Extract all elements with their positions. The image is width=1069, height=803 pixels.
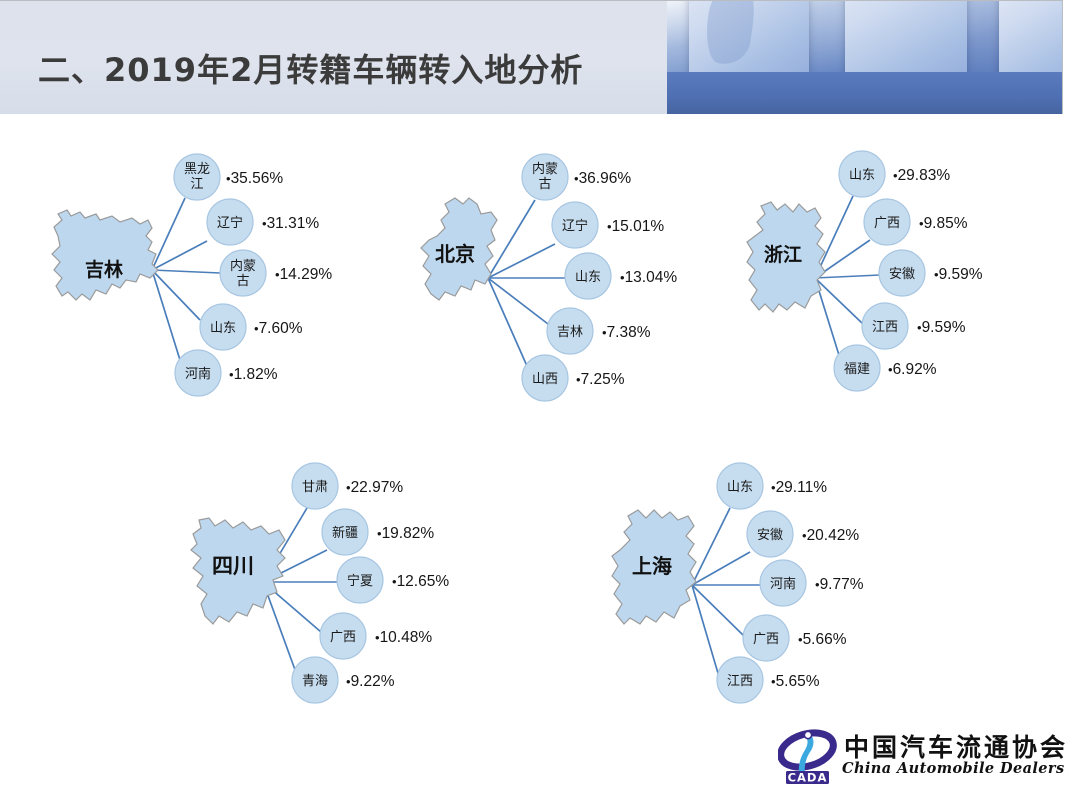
node-label-line1: 吉林 [557,325,583,340]
node-guangxi[interactable]: 广西 •9.85% [864,199,968,245]
node-label-line2: 古 [236,274,249,289]
map-label-beijing: 北京 [435,242,475,266]
node-gansu[interactable]: 甘肃 •22.97% [292,463,403,509]
node-jiangxi[interactable]: 江西 •5.65% [717,657,820,703]
node-label-line1: 河南 [185,366,211,382]
node-label-line1: 山东 [849,168,875,183]
node-guangxi[interactable]: 广西 •10.48% [320,613,432,659]
diagram-svg-zhejiang: 浙江 山东 •29.83% 广西 •9.85% 安徽 •9.59% 江西 •9.… [735,128,1065,408]
node-value: •36.96% [574,170,631,187]
node-label-line1: 内蒙 [532,161,558,177]
node-jilin[interactable]: 吉林 •7.38% [547,308,651,354]
node-label-line2: 古 [538,177,551,192]
diagram-group-beijing: 北京 内蒙 古 •36.96% 辽宁 •15.01% 山东 •13.04% 吉林… [415,128,755,408]
node-value: •20.42% [802,527,859,544]
node-value: •1.82% [229,366,278,383]
map-label-shanghai: 上海 [632,554,672,578]
node-value: •5.65% [771,673,820,690]
node-value: •7.38% [602,324,651,341]
node-label-line1: 辽宁 [562,218,588,234]
slide-header: 二、2019年2月转籍车辆转入地分析 [0,0,1063,114]
emblem-label: CADA [788,771,828,785]
node-qinghai[interactable]: 青海 •9.22% [292,657,395,703]
photo-floor [667,72,1062,114]
node-label-line1: 山东 [727,480,753,495]
node-value: •15.01% [607,218,664,235]
node-value: •9.22% [346,673,395,690]
node-guangxi[interactable]: 广西 •5.66% [743,615,847,661]
node-label-line1: 广西 [330,630,356,645]
emblem-dot [804,731,811,738]
node-shandong[interactable]: 山东 •29.11% [717,463,827,509]
page-title: 二、2019年2月转籍车辆转入地分析 [38,45,583,91]
diagram-svg-sichuan: 四川 甘肃 •22.97% 新疆 •19.82% 宁夏 •12.65% 广西 •… [185,440,525,720]
diagram-group-sichuan: 四川 甘肃 •22.97% 新疆 •19.82% 宁夏 •12.65% 广西 •… [185,440,525,720]
node-value: •10.48% [375,629,432,646]
node-value: •29.83% [893,167,950,184]
node-label-line1: 江西 [727,674,753,689]
node-value: •13.04% [620,269,677,286]
node-shandong[interactable]: 山东 •13.04% [565,253,677,299]
node-heilongjiang[interactable]: 黑龙 江 •35.56% [174,154,283,200]
node-value: •5.66% [798,631,847,648]
node-neimenggu[interactable]: 内蒙 古 •14.29% [220,250,332,296]
node-neimenggu[interactable]: 内蒙 古 •36.96% [522,154,631,200]
node-label-line1: 青海 [302,674,328,689]
node-value: •7.60% [254,320,303,337]
node-value: •31.31% [262,215,319,232]
node-label-line1: 黑龙 [184,162,210,177]
node-label-line1: 辽宁 [217,215,243,231]
node-fujian[interactable]: 福建 •6.92% [834,345,937,391]
node-label-line1: 宁夏 [347,573,373,589]
node-value: •29.11% [771,479,827,496]
node-value: •9.77% [815,576,864,593]
node-ningxia[interactable]: 宁夏 •12.65% [337,557,449,603]
node-anhui[interactable]: 安徽 •20.42% [747,511,859,557]
diagram-group-shanghai: 上海 山东 •29.11% 安徽 •20.42% 河南 •9.77% 广西 •5… [600,440,940,720]
diagram-svg-shanghai: 上海 山东 •29.11% 安徽 •20.42% 河南 •9.77% 广西 •5… [600,440,940,720]
node-value: •7.25% [576,371,625,388]
node-label-line1: 山东 [575,270,601,285]
node-value: •9.59% [917,319,966,336]
node-value: •35.56% [226,170,283,187]
node-henan[interactable]: 河南 •9.77% [760,560,864,606]
map-label-sichuan: 四川 [212,554,254,578]
node-label-line1: 广西 [874,216,900,231]
map-label-jilin: 吉林 [85,258,123,281]
map-shape-jilin [52,210,158,300]
slide-canvas: 二、2019年2月转籍车辆转入地分析 吉林 黑龙 江 •35.56% [0,0,1069,803]
node-label-line1: 山东 [210,321,236,336]
node-label-line1: 福建 [844,362,870,377]
node-label-line1: 广西 [753,632,779,647]
diagram-group-zhejiang: 浙江 山东 •29.83% 广西 •9.85% 安徽 •9.59% 江西 •9.… [735,128,1065,408]
node-label-line2: 江 [190,177,203,192]
map-label-zhejiang: 浙江 [764,243,802,266]
cada-logo: CADA 中国汽车流通协会 China Automobile Dealers A… [778,726,1060,788]
node-liaoning[interactable]: 辽宁 •31.31% [207,199,319,245]
node-label-line1: 甘肃 [302,480,328,495]
node-value: •9.85% [919,215,968,232]
node-shanxi[interactable]: 山西 •7.25% [522,355,625,401]
node-value: •9.59% [934,266,983,283]
header-cube-photo [667,1,1062,114]
node-jiangxi[interactable]: 江西 •9.59% [862,303,966,349]
node-henan[interactable]: 河南 •1.82% [175,350,278,396]
node-label-line1: 安徽 [757,528,783,543]
node-anhui[interactable]: 安徽 •9.59% [879,250,983,296]
node-shandong[interactable]: 山东 •29.83% [839,151,950,197]
node-label-line1: 新疆 [332,525,358,541]
node-value: •6.92% [888,361,937,378]
node-label-line1: 内蒙 [230,258,256,274]
diagram-svg-beijing: 北京 内蒙 古 •36.96% 辽宁 •15.01% 山东 •13.04% 吉林… [415,128,755,408]
diagram-group-jilin: 吉林 黑龙 江 •35.56% 辽宁 •31.31% 内蒙 古 •14.29% [40,128,380,408]
node-liaoning[interactable]: 辽宁 •15.01% [552,202,664,248]
cada-emblem-icon: CADA [778,726,838,786]
diagram-svg-jilin: 吉林 黑龙 江 •35.56% 辽宁 •31.31% 内蒙 古 •14.29% [40,128,380,408]
node-value: •22.97% [346,479,403,496]
node-label-line1: 河南 [770,576,796,592]
node-value: •14.29% [275,266,332,283]
node-shandong[interactable]: 山东 •7.60% [200,304,303,350]
node-value: •19.82% [377,525,434,542]
node-label-line1: 山西 [532,372,558,387]
logo-name-en: China Automobile Dealers Association [842,760,1069,777]
node-value: •12.65% [392,573,449,590]
logo-name-cn: 中国汽车流通协会 [844,728,1068,764]
node-xinjiang[interactable]: 新疆 •19.82% [322,509,434,555]
node-label-line1: 江西 [872,320,898,335]
node-label-line1: 安徽 [889,267,915,282]
